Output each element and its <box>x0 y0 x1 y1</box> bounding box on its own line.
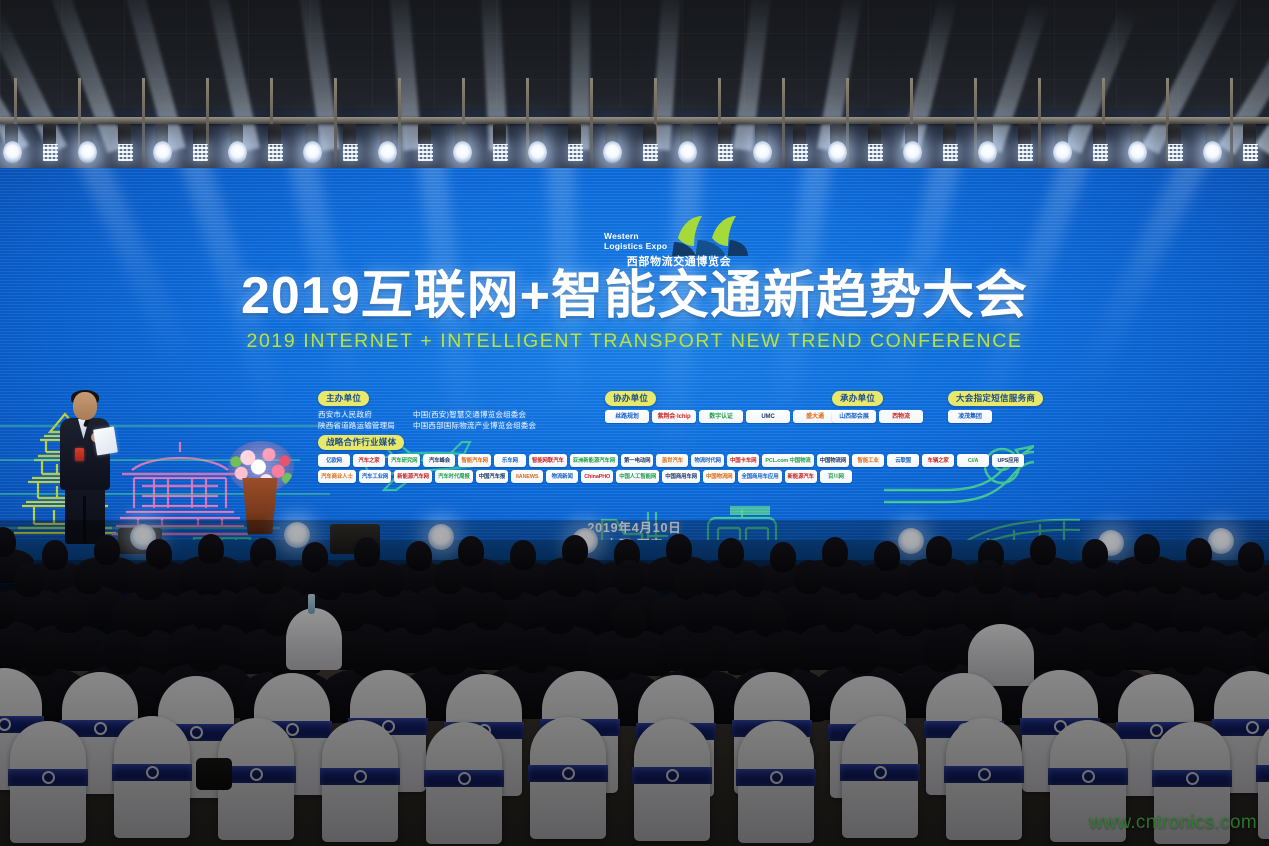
led-matrix-panel-light <box>1093 144 1108 161</box>
media-partner-logo: 智能汽车网 <box>458 454 490 467</box>
chair-sash-buckle <box>190 726 203 739</box>
host-logo-row: 山西部会展西物流 <box>832 410 923 423</box>
host-logo: 西物流 <box>879 410 923 423</box>
banquet-chair <box>530 717 606 839</box>
chair-sash-buckle <box>42 771 55 784</box>
co-organizer-logo: 紫荆会·Ichip <box>652 410 696 423</box>
organizer-line: 陕西省道路运输管理局 <box>318 421 395 431</box>
led-matrix-panel-light <box>1168 144 1183 161</box>
chair-sash-buckle <box>286 723 299 736</box>
media-partner-logo: 汽车时代周报 <box>435 470 473 483</box>
chair-sash-buckle <box>874 766 887 779</box>
chair-sash-buckle <box>146 766 159 779</box>
audience-area <box>0 520 1269 846</box>
led-matrix-panel-light <box>718 144 733 161</box>
led-matrix-panel-light <box>418 144 433 161</box>
led-matrix-panel-light <box>868 144 883 161</box>
sms-provider-pill: 大会指定短信服务商 <box>948 391 1043 407</box>
moving-head-beam-light <box>1053 141 1072 164</box>
audience-member-head <box>842 630 880 674</box>
section-media: 战略合作行业媒体 亿欧网汽车之家汽车研究网汽车峰会智能汽车网乐车网智能网联汽车亚… <box>318 432 1046 483</box>
host-pill: 承办单位 <box>832 391 883 407</box>
audience-member-head <box>14 563 44 597</box>
audience-member-head <box>192 594 226 632</box>
audience-member-head <box>1154 560 1184 594</box>
media-logo-grid: 亿欧网汽车之家汽车研究网汽车峰会智能汽车网乐车网智能网联汽车亚洲新能源汽车网第一… <box>318 454 1046 483</box>
media-partner-logo: 盖世汽车 <box>656 454 688 467</box>
host-logo: 山西部会展 <box>832 410 876 423</box>
audience-member-head <box>822 537 848 567</box>
moving-head-beam-light <box>978 141 997 164</box>
banquet-chair <box>426 722 502 844</box>
audience-member-head <box>94 535 120 565</box>
media-partner-logo: 物流新闻 <box>546 470 578 483</box>
organizers-column-1: 西安市人民政府陕西省道路运输管理局 <box>318 410 395 430</box>
audience-member-head <box>794 560 824 594</box>
moving-head-beam-light <box>1203 141 1222 164</box>
audience-member-head <box>1030 535 1056 565</box>
expo-logo-mark-icon <box>672 216 748 256</box>
media-partner-logo: UPS应用 <box>992 454 1024 467</box>
media-partner-logo: 新能源汽车 <box>785 470 817 483</box>
backpack <box>196 758 232 790</box>
led-matrix-panel-light <box>493 144 508 161</box>
audience-member-head <box>42 540 68 570</box>
organizers-column-2: 中国(西安)智慧交通博览会组委会中国西部国际物流产业博览会组委会 <box>413 410 536 430</box>
audience-member-head <box>1186 538 1212 568</box>
water-bottle <box>308 594 315 614</box>
audience-member-head <box>926 536 952 566</box>
banquet-chair <box>114 716 190 838</box>
audience-member-head <box>682 595 716 633</box>
host-badge <box>75 448 84 461</box>
audience-member-head <box>186 628 224 672</box>
audience-member-head <box>614 560 644 594</box>
chair-sash-buckle <box>1150 724 1163 737</box>
sms-provider-logo: 凌茂集团 <box>948 410 992 423</box>
audience-member-head <box>874 541 900 571</box>
media-partner-logo: 中国物流网 <box>817 454 849 467</box>
chair-sash-buckle <box>978 768 991 781</box>
site-watermark: www.cntronics.com <box>1089 812 1257 834</box>
chair-sash-buckle <box>770 771 783 784</box>
conference-main-title: 2019互联网+智能交通新趋势大会 <box>0 268 1269 324</box>
media-partner-logo: 智能网联汽车 <box>529 454 567 467</box>
organizer-line: 中国西部国际物流产业博览会组委会 <box>413 421 536 431</box>
media-partner-logo: ChinaPHO <box>581 470 613 483</box>
co-organizer-logo: UMC <box>746 410 790 423</box>
truss-light-housing <box>418 124 431 146</box>
audience-member-head <box>354 537 380 567</box>
moving-head-beam-light <box>153 141 172 164</box>
audience-member-head <box>514 629 552 673</box>
audience-member-head <box>134 566 164 600</box>
expo-logo-en: Western Logistics Expo <box>604 232 670 251</box>
chair-sash-buckle <box>562 767 575 780</box>
audience-member-head <box>1032 597 1066 635</box>
audience-member-head <box>472 592 506 630</box>
media-partner-logo: 亚洲新能源汽车网 <box>570 454 618 467</box>
truss-vertical-post <box>974 78 977 168</box>
section-sms-provider: 大会指定短信服务商 凌茂集团 <box>948 388 1043 423</box>
led-matrix-panel-light <box>793 144 808 161</box>
co-organizer-logo: 盛大通 <box>793 410 837 423</box>
media-partner-logo: 汽车研究网 <box>388 454 420 467</box>
section-host: 承办单位 山西部会展西物流 <box>832 388 923 423</box>
media-partner-logo: 汽车之家 <box>353 454 385 467</box>
media-partner-logo: 亿欧网 <box>318 454 350 467</box>
truss-light-housing <box>343 124 356 146</box>
moving-head-beam-light <box>1128 141 1147 164</box>
moving-head-beam-light <box>603 141 622 164</box>
media-partner-logo: 新能源汽车网 <box>394 470 432 483</box>
chair-sash-buckle <box>666 769 679 782</box>
truss-light-housing <box>943 124 956 146</box>
audience-member-head <box>760 632 798 676</box>
audience-member-head <box>402 597 436 635</box>
moving-head-beam-light <box>303 141 322 164</box>
moving-head-beam-light <box>453 141 472 164</box>
media-partner-logo: 云联盟 <box>887 454 919 467</box>
audience-member-head <box>22 632 60 676</box>
chair-sash-buckle <box>1082 770 1095 783</box>
moving-head-beam-light <box>378 141 397 164</box>
conference-sub-title: 2019 INTERNET + INTELLIGENT TRANSPORT NE… <box>0 330 1269 352</box>
truss-vertical-post <box>334 78 337 168</box>
audience-member-head <box>562 535 588 565</box>
media-pill: 战略合作行业媒体 <box>318 435 404 451</box>
media-partner-logo: 百川网 <box>820 470 852 483</box>
co-organizer-logo: 丝路规划 <box>605 410 649 423</box>
media-partner-logo: 智能工业 <box>852 454 884 467</box>
audience-member-head <box>146 539 172 569</box>
audience-member-head <box>104 630 142 674</box>
audience-member-head <box>1134 534 1160 564</box>
host-head <box>73 392 97 420</box>
banquet-chair <box>10 721 86 843</box>
audience-member-head <box>74 560 104 594</box>
truss-light-housing <box>793 124 806 146</box>
audience-member-head <box>734 563 764 597</box>
led-matrix-panel-light <box>643 144 658 161</box>
truss-vertical-post <box>782 78 785 168</box>
truss-light-housing <box>718 124 731 146</box>
media-partner-logo: 中国汽车报 <box>476 470 508 483</box>
organizers-pill: 主办单位 <box>318 391 369 407</box>
moving-head-beam-light <box>903 141 922 164</box>
co-organizer-logo: 数字认证 <box>699 410 743 423</box>
moving-head-beam-light <box>828 141 847 164</box>
media-partner-logo: PCL.com 中国物流 <box>762 454 813 467</box>
audience-member-head <box>596 636 634 680</box>
media-partner-logo: 物流时代网 <box>691 454 723 467</box>
moving-head-beam-light <box>3 141 22 164</box>
audience-member-head <box>924 628 962 672</box>
audience-member-head <box>432 631 470 675</box>
audience-member-head <box>914 563 944 597</box>
audience-member-head <box>822 594 856 632</box>
organizer-line: 中国(西安)智慧交通博览会组委会 <box>413 410 536 420</box>
audience-member-head <box>718 538 744 568</box>
round-table-left <box>286 608 342 670</box>
audience-member-head <box>1238 542 1264 572</box>
audience-member-head <box>198 534 224 564</box>
audience-member-head <box>666 534 692 564</box>
led-matrix-panel-light <box>568 144 583 161</box>
led-matrix-panel-light <box>193 144 208 161</box>
section-co-organizers: 协办单位 丝路规划紫荆会·Ichip数字认证UMC盛大通 <box>605 388 837 423</box>
audience-member-head <box>542 596 576 634</box>
truss-light-housing <box>118 124 131 146</box>
truss-vertical-post <box>590 78 593 168</box>
audience-member-head <box>458 536 484 566</box>
chair-sash-buckle <box>94 722 107 735</box>
truss-vertical-post <box>1038 78 1041 168</box>
banquet-chair <box>946 718 1022 840</box>
audience-member-head <box>1034 566 1064 600</box>
truss-vertical-post <box>398 78 401 168</box>
audience-member-head <box>434 560 464 594</box>
moving-head-beam-light <box>78 141 97 164</box>
media-partner-logo: C//A <box>957 454 989 467</box>
media-partner-logo: 中国卡车网 <box>727 454 759 467</box>
audience-member-head <box>1214 566 1244 600</box>
led-matrix-panel-light <box>118 144 133 161</box>
truss-light-housing <box>1243 124 1256 146</box>
truss-vertical-post <box>142 78 145 168</box>
led-matrix-panel-light <box>343 144 358 161</box>
moving-head-beam-light <box>228 141 247 164</box>
chair-sash-buckle <box>354 770 367 783</box>
audience-member-head <box>1172 596 1206 634</box>
led-matrix-panel-light <box>43 144 58 161</box>
banquet-chair <box>738 721 814 843</box>
truss-light-housing <box>493 124 506 146</box>
media-partner-logo: 第一电动网 <box>621 454 653 467</box>
truss-light-housing <box>1168 124 1181 146</box>
truss-light-housing <box>1018 124 1031 146</box>
media-partner-logo: 汽车工业网 <box>359 470 391 483</box>
host-notes-paper <box>93 427 118 456</box>
chair-sash-buckle <box>1186 772 1199 785</box>
audience-member-head <box>854 566 884 600</box>
truss-light-housing <box>193 124 206 146</box>
audience-member-head <box>554 563 584 597</box>
media-partner-logo: 全国商用车应用 <box>738 470 781 483</box>
audience-member-head <box>612 600 646 638</box>
audience-member-head <box>406 541 432 571</box>
media-partner-logo: 中国物流网 <box>703 470 735 483</box>
chair-sash-buckle <box>458 772 471 785</box>
audience-member-head <box>194 563 224 597</box>
audience-member-head <box>974 560 1004 594</box>
moving-head-beam-light <box>528 141 547 164</box>
co-organizers-pill: 协办单位 <box>605 391 656 407</box>
chair-sash <box>1212 719 1269 736</box>
media-partner-logo: 中国人工智能网 <box>616 470 659 483</box>
media-partner-logo: IIANEWS <box>511 470 543 483</box>
lighting-truss-bar <box>0 117 1269 124</box>
audience-member-head <box>1088 633 1126 677</box>
section-organizers: 主办单位 西安市人民政府陕西省道路运输管理局 中国(西安)智慧交通博览会组委会中… <box>318 388 536 430</box>
led-matrix-panel-light <box>1018 144 1033 161</box>
banquet-chair <box>842 716 918 838</box>
audience-member-head <box>254 560 284 594</box>
led-matrix-panel-light <box>1243 144 1258 161</box>
chair-sash-buckle <box>250 768 263 781</box>
truss-vertical-post <box>1230 78 1233 168</box>
conference-photo: Western Logistics Expo 西部物流交通博览会 2019互联网… <box>0 0 1269 846</box>
audience-member-head <box>510 540 536 570</box>
audience-member-head <box>892 598 926 636</box>
sms-provider-logo-row: 凌茂集团 <box>948 410 1043 423</box>
truss-light-housing <box>868 124 881 146</box>
led-matrix-panel-light <box>943 144 958 161</box>
chair-sash <box>1256 765 1269 782</box>
truss-light-housing <box>1093 124 1106 146</box>
moving-head-beam-light <box>753 141 772 164</box>
audience-member-head <box>678 634 716 678</box>
audience-member-head <box>770 542 796 572</box>
media-partner-logo: 中国商用车网 <box>662 470 700 483</box>
media-partner-logo: 汽车商业人士 <box>318 470 356 483</box>
truss-light-housing <box>43 124 56 146</box>
chair-sash-buckle <box>1246 721 1259 734</box>
truss-light-housing <box>643 124 656 146</box>
co-organizers-logo-row: 丝路规划紫荆会·Ichip数字认证UMC盛大通 <box>605 410 837 423</box>
media-partner-logo: 汽车峰会 <box>423 454 455 467</box>
banquet-chair <box>634 719 710 841</box>
truss-light-housing <box>268 124 281 146</box>
banquet-chair <box>322 720 398 842</box>
media-partner-logo: 车辆之家 <box>922 454 954 467</box>
audience-member-head <box>374 563 404 597</box>
audience-member-head <box>52 595 86 633</box>
led-matrix-panel-light <box>268 144 283 161</box>
truss-light-housing <box>568 124 581 146</box>
audience-member-head <box>1102 592 1136 630</box>
media-partner-logo: 乐车网 <box>494 454 526 467</box>
audience-member-head <box>1170 631 1208 675</box>
organizer-line: 西安市人民政府 <box>318 410 395 420</box>
moving-head-beam-light <box>678 141 697 164</box>
